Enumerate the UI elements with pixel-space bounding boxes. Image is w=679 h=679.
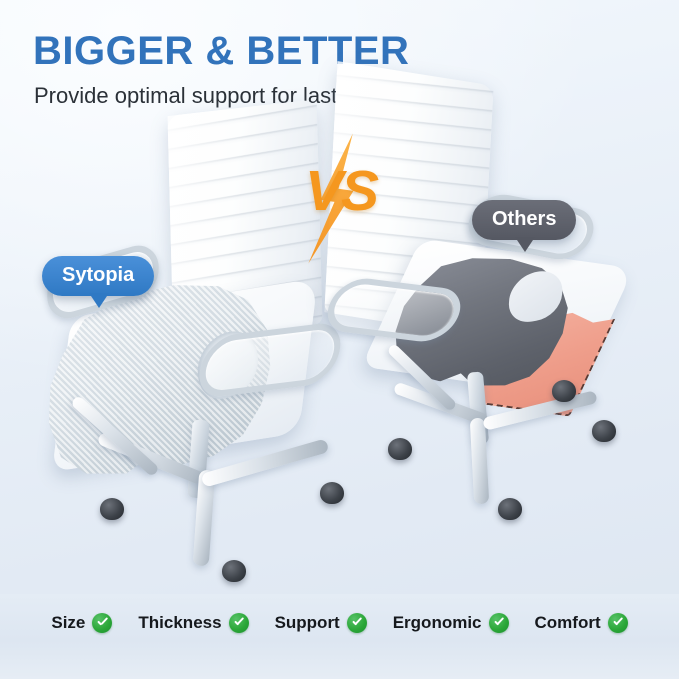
badge-others: Others	[472, 200, 576, 240]
caster-right-2	[498, 498, 522, 520]
caster-left-1	[100, 498, 124, 520]
caster-right-4	[552, 380, 576, 402]
caster-right-3	[592, 420, 616, 442]
feature-label: Comfort	[535, 613, 601, 633]
feature-label: Support	[275, 613, 340, 633]
caster-left-2	[222, 560, 246, 582]
comparison-scene: VS Sytopia Others	[0, 0, 679, 600]
feature-item-comfort: Comfort	[535, 613, 628, 633]
caster-right-1	[388, 438, 412, 460]
versus-label: VS	[286, 158, 396, 224]
feature-item-thickness: Thickness	[138, 613, 248, 633]
versus-mark: VS	[286, 140, 396, 260]
check-circle-icon	[608, 613, 628, 633]
check-circle-icon	[347, 613, 367, 633]
feature-label: Size	[51, 613, 85, 633]
check-circle-icon	[489, 613, 509, 633]
badge-sytopia-label: Sytopia	[62, 264, 134, 286]
caster-left-3	[320, 482, 344, 504]
promo-banner: BIGGER & BETTER Provide optimal support …	[0, 0, 679, 679]
feature-item-support: Support	[275, 613, 367, 633]
badge-sytopia: Sytopia	[42, 256, 154, 296]
check-circle-icon	[92, 613, 112, 633]
feature-label: Ergonomic	[393, 613, 482, 633]
feature-item-size: Size	[51, 613, 112, 633]
check-circle-icon	[229, 613, 249, 633]
feature-bar: Size Thickness Support Ergonomic Comfort	[0, 594, 679, 679]
feature-label: Thickness	[138, 613, 221, 633]
badge-others-label: Others	[492, 208, 556, 230]
feature-item-ergonomic: Ergonomic	[393, 613, 509, 633]
